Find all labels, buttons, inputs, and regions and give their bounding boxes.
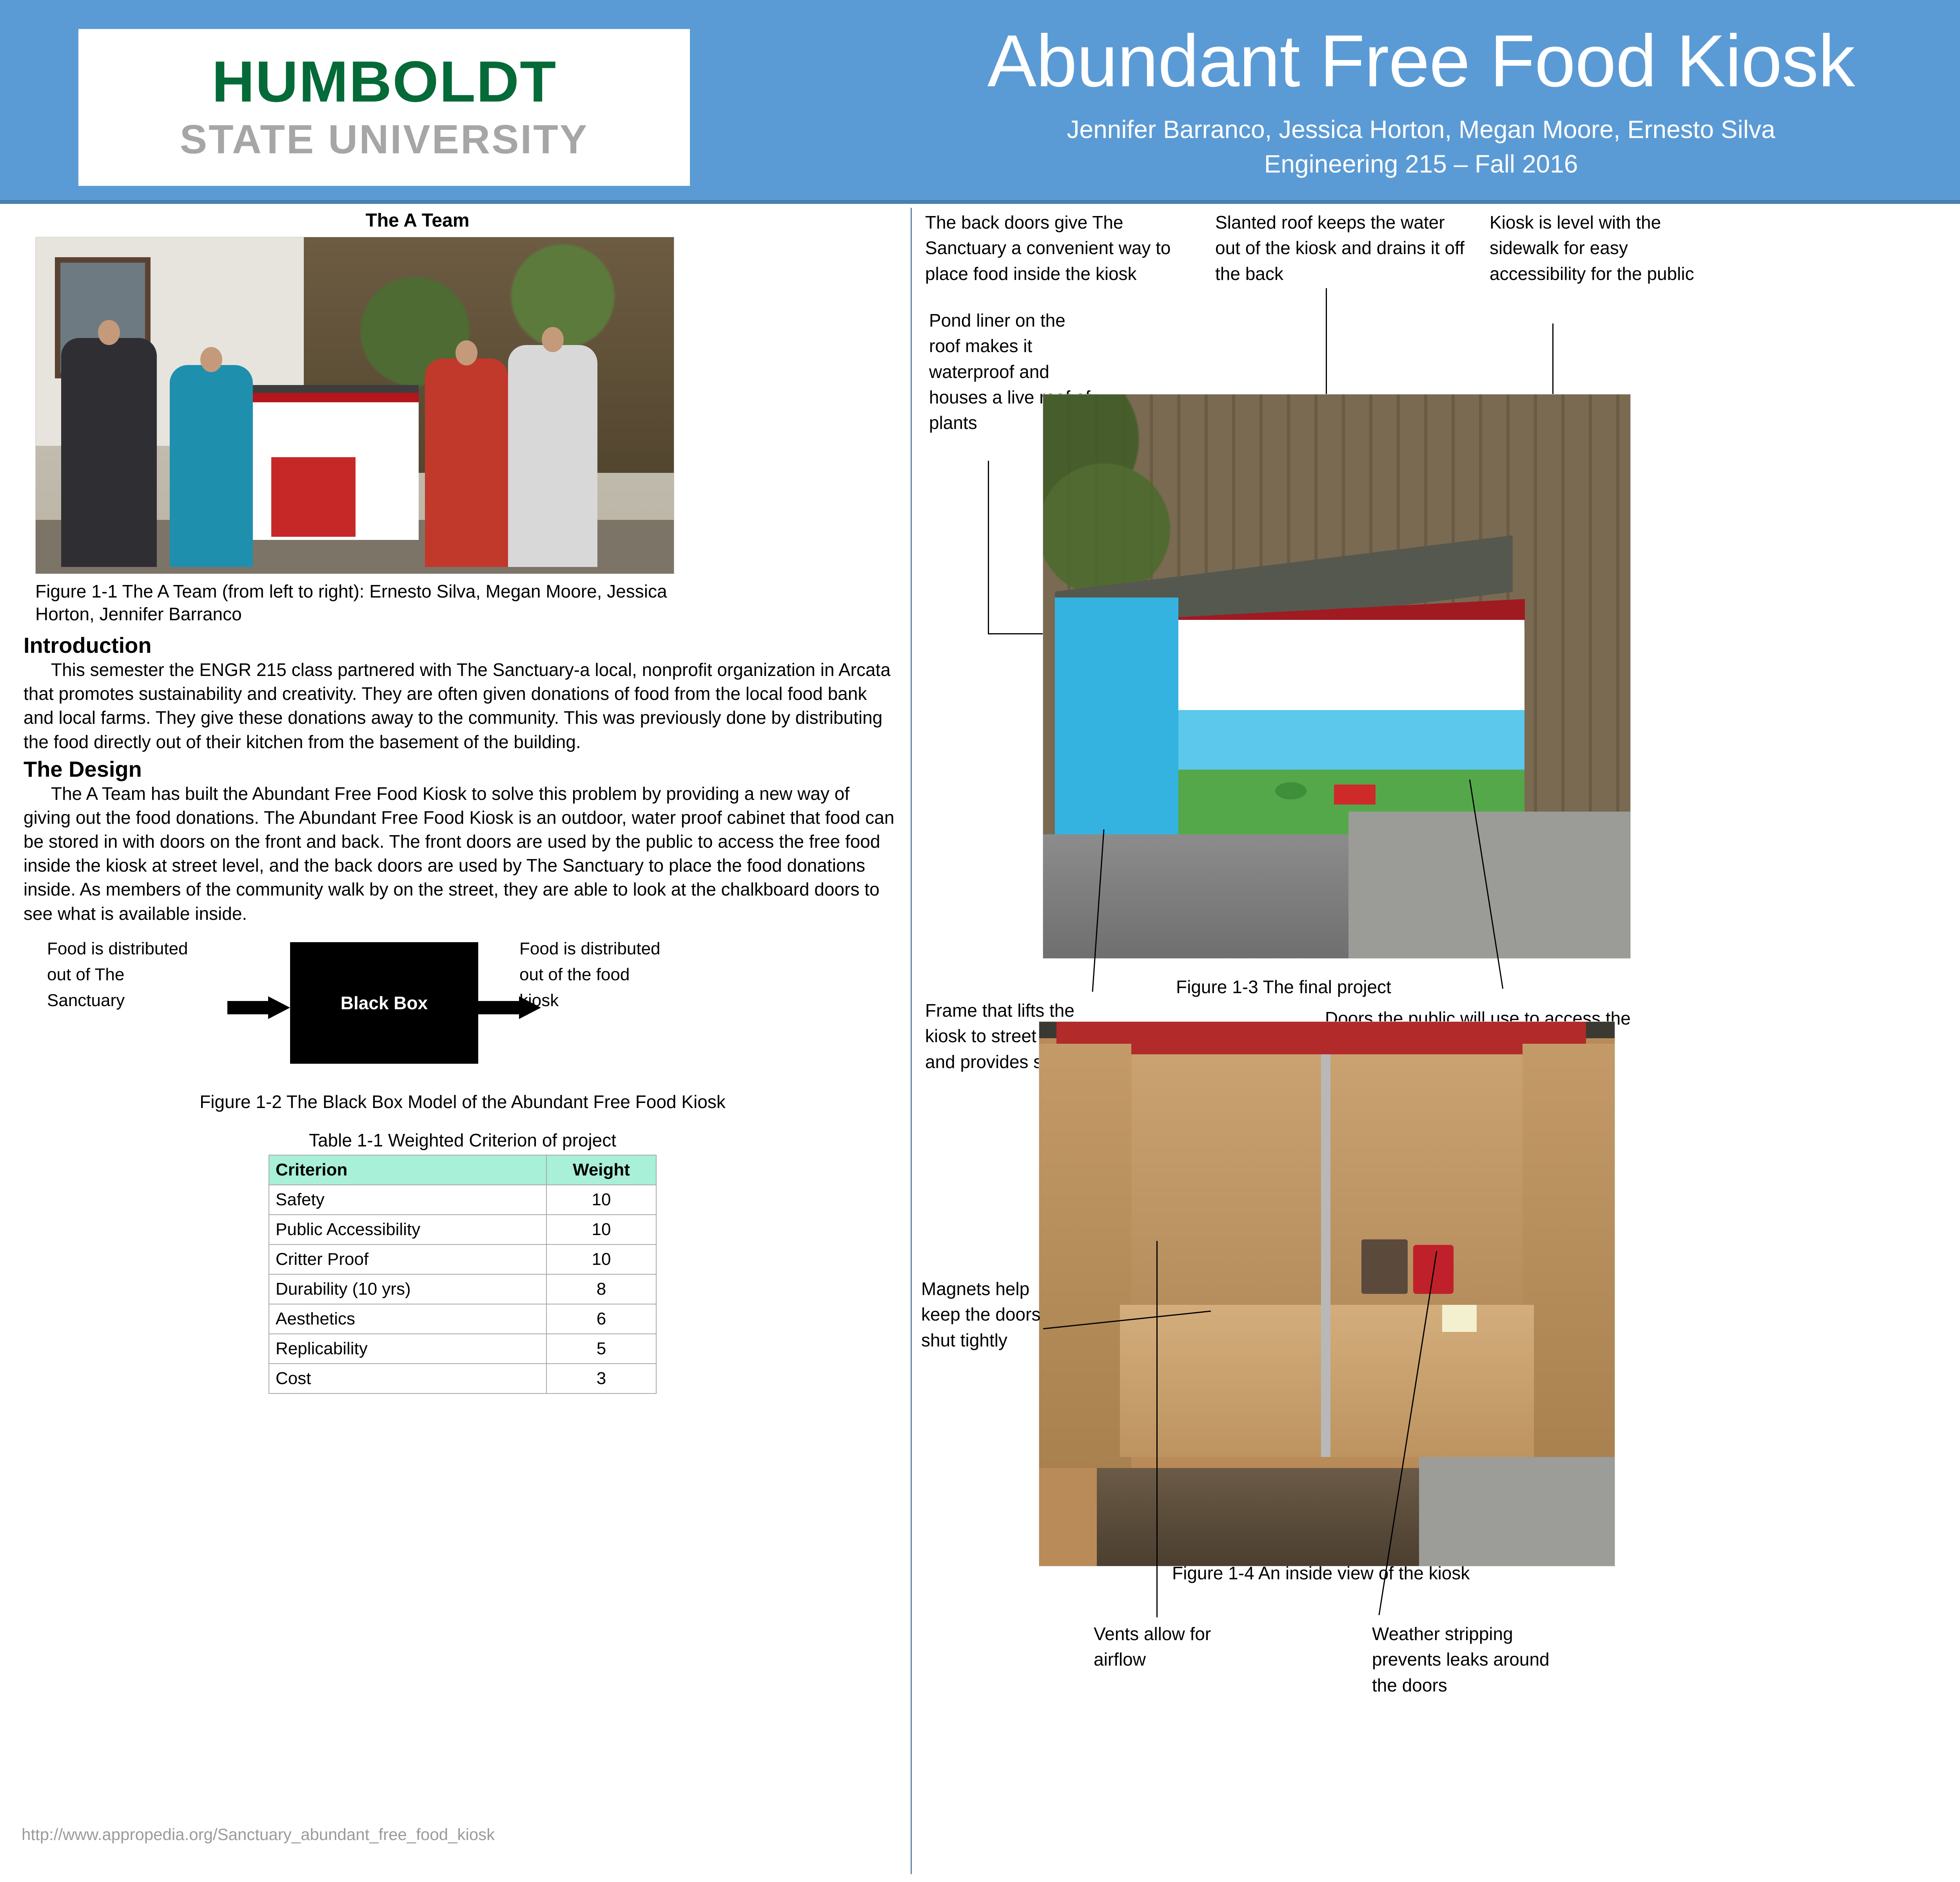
annotation-weather-stripping: Weather stripping prevents leaks around … <box>1372 1621 1568 1698</box>
humboldt-state-university-logo: HUMBOLDT STATE UNIVERSITY <box>78 29 690 186</box>
a-team-heading: The A Team <box>0 210 902 231</box>
figure-1-1-caption: Figure 1-1 The A Team (from left to righ… <box>35 580 694 625</box>
arrow-right-icon <box>227 996 290 1018</box>
annotation-back-doors: The back doors give The Sanctuary a conv… <box>925 210 1192 287</box>
weight-cell: 8 <box>546 1274 656 1304</box>
team-photo <box>35 237 674 574</box>
leader-line <box>1156 1241 1158 1617</box>
introduction-heading: Introduction <box>24 632 902 658</box>
weight-cell: 10 <box>546 1185 656 1215</box>
figure-1-3-photo <box>1043 394 1631 959</box>
column-divider-left <box>911 208 912 1874</box>
criterion-cell: Safety <box>269 1185 546 1215</box>
the-design-heading: The Design <box>24 756 902 782</box>
poster-header: HUMBOLDT STATE UNIVERSITY Abundant Free … <box>0 0 1960 204</box>
table-1-1-title: Table 1-1 Weighted Criterion of project <box>24 1130 902 1151</box>
table-1-1-header-0: Criterion <box>269 1155 546 1185</box>
criterion-cell: Critter Proof <box>269 1244 546 1274</box>
table-row: Replicability5 <box>269 1334 656 1364</box>
table-header-row: Criterion Weight <box>269 1155 656 1185</box>
weight-cell: 5 <box>546 1334 656 1364</box>
figure-1-4-caption: Figure 1-4 An inside view of the kiosk <box>1172 1562 1470 1584</box>
weight-cell: 6 <box>546 1304 656 1334</box>
weight-cell: 3 <box>546 1364 656 1393</box>
table-row: Safety10 <box>269 1185 656 1215</box>
criterion-cell: Public Accessibility <box>269 1215 546 1244</box>
black-box-output-label: Food is distributed out of the food kios… <box>519 936 672 1014</box>
black-box-diagram: Food is distributed out of The Sanctuary… <box>24 938 902 1068</box>
criterion-cell: Aesthetics <box>269 1304 546 1334</box>
table-row: Cost3 <box>269 1364 656 1393</box>
title-block: Abundant Free Food Kiosk Jennifer Barran… <box>745 9 1960 178</box>
annotation-vents: Vents allow for airflow <box>1094 1621 1223 1673</box>
weight-cell: 10 <box>546 1244 656 1274</box>
annotation-level-sidewalk: Kiosk is level with the sidewalk for eas… <box>1490 210 1717 287</box>
figure-1-3-caption: Figure 1-3 The final project <box>1176 976 1391 997</box>
criterion-cell: Durability (10 yrs) <box>269 1274 546 1304</box>
table-1-1-weighted-criterion: Criterion Weight Safety10 Public Accessi… <box>269 1155 657 1394</box>
table-1-1-header-1: Weight <box>546 1155 656 1185</box>
introduction-body: This semester the ENGR 215 class partner… <box>24 658 902 754</box>
the-design-text: The A Team has built the Abundant Free F… <box>24 783 894 924</box>
weight-cell: 10 <box>546 1215 656 1244</box>
source-url[interactable]: http://www.appropedia.org/Sanctuary_abun… <box>22 1825 495 1844</box>
the-design-body: The A Team has built the Abundant Free F… <box>24 782 902 926</box>
left-column: The A Team Figure 1-1 The A Team (from l… <box>24 210 902 1394</box>
annotation-slanted-roof: Slanted roof keeps the water out of the … <box>1215 210 1466 287</box>
hsu-logo-line1: HUMBOLDT <box>212 53 557 111</box>
table-row: Durability (10 yrs)8 <box>269 1274 656 1304</box>
figure-1-2-caption: Figure 1-2 The Black Box Model of the Ab… <box>24 1091 902 1112</box>
black-box: Black Box <box>290 942 478 1064</box>
criterion-cell: Replicability <box>269 1334 546 1364</box>
author-list: Jennifer Barranco, Jessica Horton, Megan… <box>745 115 1960 144</box>
hsu-logo-line2: STATE UNIVERSITY <box>180 117 588 162</box>
criterion-cell: Cost <box>269 1364 546 1393</box>
leader-line <box>988 461 989 633</box>
black-box-input-label: Food is distributed out of The Sanctuary <box>47 936 200 1014</box>
introduction-text: This semester the ENGR 215 class partner… <box>24 659 891 752</box>
course-label: Engineering 215 – Fall 2016 <box>745 149 1960 178</box>
table-row: Public Accessibility10 <box>269 1215 656 1244</box>
table-row: Critter Proof10 <box>269 1244 656 1274</box>
figure-1-4-photo <box>1039 1021 1615 1566</box>
table-row: Aesthetics6 <box>269 1304 656 1334</box>
page-title: Abundant Free Food Kiosk <box>745 20 1960 102</box>
annotation-magnets: Magnets help keep the doors shut tightly <box>921 1276 1043 1353</box>
